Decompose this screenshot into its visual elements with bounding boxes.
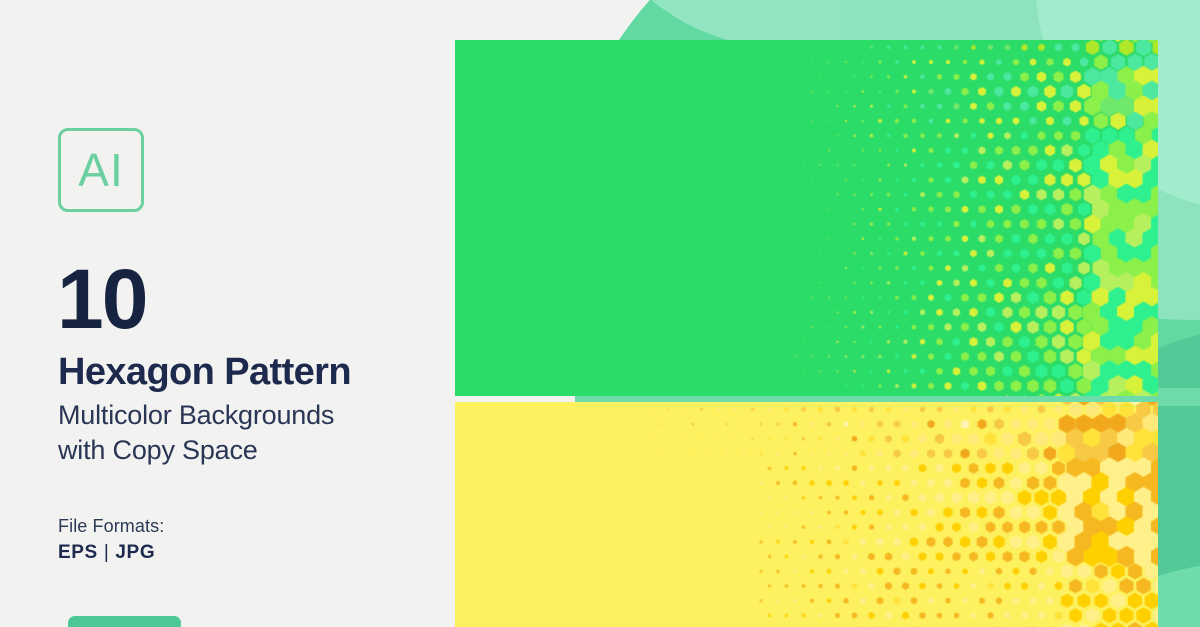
page-title: Hexagon Pattern: [58, 352, 351, 393]
cta-button[interactable]: [68, 616, 181, 627]
page-subtitle: Multicolor Backgrounds with Copy Space: [58, 398, 334, 467]
format-jpg: JPG: [115, 542, 155, 563]
yellow-hexagon-preview[interactable]: [455, 402, 1158, 627]
ai-badge-label: AI: [78, 147, 123, 193]
left-info-panel: AI 10 Hexagon Pattern Multicolor Backgro…: [0, 0, 455, 627]
format-separator: |: [98, 542, 116, 563]
item-count: 10: [57, 257, 146, 341]
green-hexagon-preview[interactable]: [455, 40, 1158, 396]
page-subtitle-line2: with Copy Space: [58, 433, 334, 468]
yellow-hexagon-canvas: [455, 402, 1158, 627]
file-formats-label: File Formats:: [58, 516, 164, 537]
ai-format-badge: AI: [58, 128, 144, 212]
green-hexagon-canvas: [455, 40, 1158, 396]
preview-canvas: AI 10 Hexagon Pattern Multicolor Backgro…: [0, 0, 1200, 627]
file-formats-value: EPS|JPG: [58, 542, 155, 564]
format-eps: EPS: [58, 542, 98, 563]
page-subtitle-line1: Multicolor Backgrounds: [58, 398, 334, 433]
